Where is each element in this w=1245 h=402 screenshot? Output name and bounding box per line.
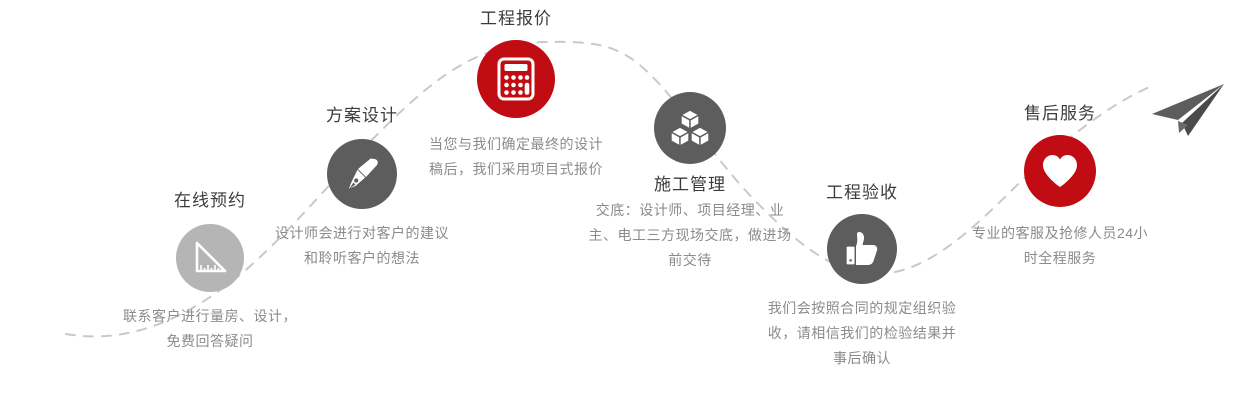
process-flow-diagram: 在线预约 联系客户进行量房、设计，免费回答疑问: [0, 0, 1245, 402]
step-icon-5: [757, 214, 967, 284]
step-title-3: 工程报价: [411, 8, 621, 30]
calculator-icon: [477, 40, 555, 118]
flow-step-6[interactable]: 售后服务 专业的客服及抢修人员24小时全程服务: [955, 103, 1165, 271]
heart-icon: [1024, 135, 1096, 207]
step-desc-6: 专业的客服及抢修人员24小时全程服务: [965, 221, 1155, 271]
step-icon-4: [585, 92, 795, 164]
step-desc-2: 设计师会进行对客户的建议和聆听客户的想法: [272, 221, 452, 271]
step-desc-3: 当您与我们确定最终的设计稿后，我们采用项目式报价: [426, 132, 606, 182]
step-desc-5: 我们会按照合同的规定组织验收，请相信我们的检验结果并事后确认: [767, 296, 957, 371]
flow-step-5[interactable]: 工程验收 我们会按照合同的规定组织验收，请相信我们的检验结果并事后确认: [757, 182, 967, 371]
thumbs-up-icon: [827, 214, 897, 284]
cubes-icon: [654, 92, 726, 164]
step-title-5: 工程验收: [757, 182, 967, 204]
step-desc-1: 联系客户进行量房、设计，免费回答疑问: [120, 304, 300, 354]
step-title-6: 售后服务: [955, 103, 1165, 125]
ruler-triangle-icon: [176, 224, 244, 292]
step-icon-6: [955, 135, 1165, 207]
fountain-pen-icon: [327, 139, 397, 209]
